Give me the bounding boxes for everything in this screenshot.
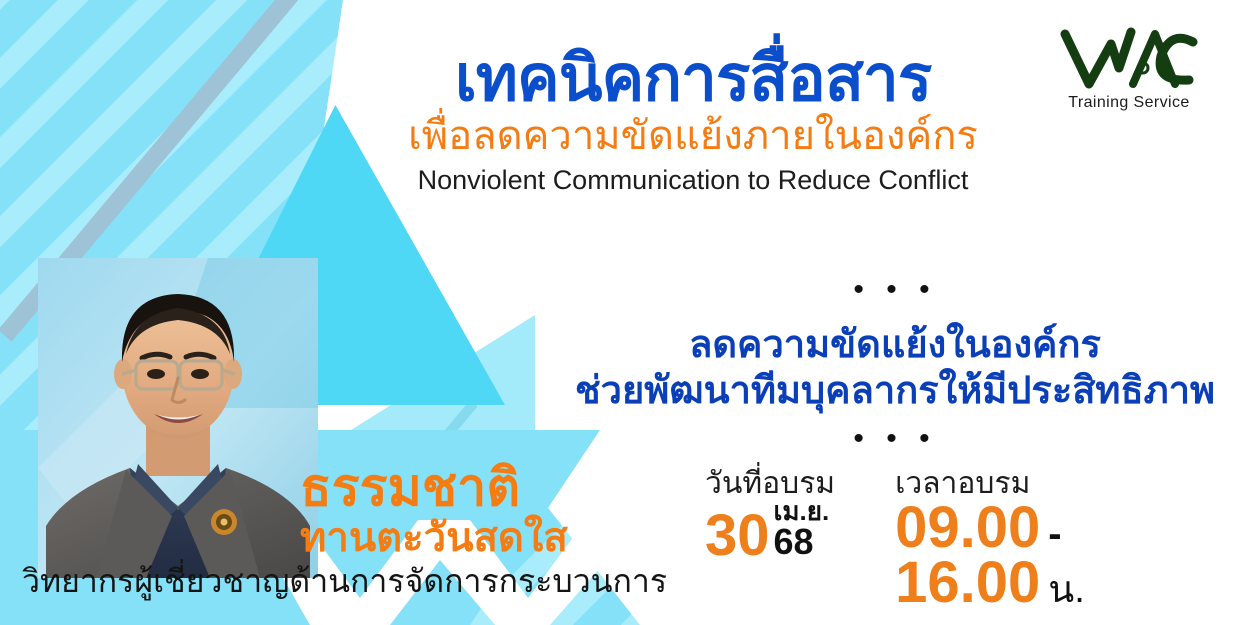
benefit-line-1: ลดความขัดแย้งในองค์กร bbox=[560, 322, 1230, 368]
schedule-block: วันที่อบรม 30 เม.ย. 68 เวลาอบรม 09.00 - … bbox=[705, 468, 1225, 610]
headline-subtitle-english: Nonviolent Communication to Reduce Confl… bbox=[388, 164, 998, 196]
training-date-month-year: เม.ย. 68 bbox=[774, 498, 830, 564]
training-date-column: วันที่อบรม 30 เม.ย. 68 bbox=[705, 468, 835, 610]
benefits-lines: ลดความขัดแย้งในองค์กร ช่วยพัฒนาทีมบุคลาก… bbox=[560, 322, 1230, 415]
wac-logo-mark bbox=[1059, 26, 1199, 92]
training-date-value: 30 เม.ย. 68 bbox=[705, 498, 835, 564]
headline-subtitle-thai: เพื่อลดความขัดแย้งภายในองค์กร bbox=[388, 114, 998, 158]
training-date-day: 30 bbox=[705, 508, 770, 563]
portrait-illustration bbox=[38, 258, 318, 578]
training-date-month: เม.ย. bbox=[774, 498, 830, 524]
training-time-dash: - bbox=[1048, 516, 1061, 552]
speaker-block: ธรรมชาติ ทานตะวันสดใส bbox=[300, 462, 600, 560]
training-time-end-row: 16.00 น. bbox=[895, 555, 1085, 610]
training-date-label: วันที่อบรม bbox=[705, 468, 835, 500]
speaker-role: วิทยากรผู้เชี่ยวชาญด้านการจัดการกระบวนกา… bbox=[22, 564, 667, 599]
headline-block: เทคนิคการสื่อสาร เพื่อลดความขัดแย้งภายใน… bbox=[388, 46, 998, 196]
speaker-first-name: ธรรมชาติ bbox=[300, 462, 600, 514]
benefits-block: • • • ลดความขัดแย้งในองค์กร ช่วยพัฒนาทีม… bbox=[560, 278, 1230, 453]
training-time-start: 09.00 bbox=[895, 500, 1040, 555]
wac-logo: Training Service bbox=[1054, 26, 1204, 112]
promo-banner: Training Service เทคนิคการสื่อสาร เพื่อล… bbox=[0, 0, 1250, 625]
training-time-column: เวลาอบรม 09.00 - 16.00 น. bbox=[895, 468, 1085, 610]
training-time-start-row: 09.00 - bbox=[895, 500, 1085, 555]
training-time-unit: น. bbox=[1048, 573, 1085, 607]
training-time-end: 16.00 bbox=[895, 555, 1040, 610]
benefit-line-2: ช่วยพัฒนาทีมบุคลากรให้มีประสิทธิภาพ bbox=[560, 368, 1230, 414]
speaker-portrait-photo bbox=[38, 258, 318, 578]
dots-separator-bottom: • • • bbox=[560, 427, 1230, 453]
training-date-year: 68 bbox=[774, 524, 814, 560]
speaker-last-name: ทานตะวันสดใส bbox=[300, 516, 600, 560]
logo-subtitle: Training Service bbox=[1054, 94, 1204, 112]
dots-separator-top: • • • bbox=[560, 278, 1230, 304]
headline-title-thai: เทคนิคการสื่อสาร bbox=[388, 46, 998, 110]
